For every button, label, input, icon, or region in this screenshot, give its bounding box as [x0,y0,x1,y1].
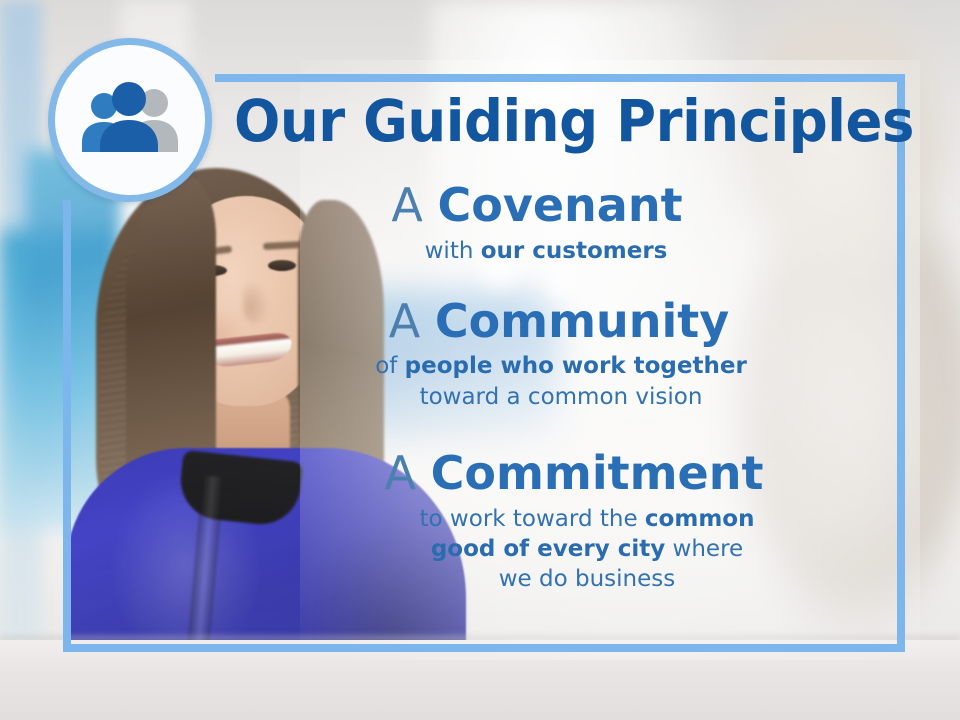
principle-community: A Community of people who work together … [220,296,888,412]
subtext-line: we do business [286,564,888,594]
subtext-line: toward a common vision [234,382,888,412]
principle-keyword: Commitment [431,446,764,500]
principle-article: A [389,294,420,348]
principle-community-subtext: of people who work together toward a com… [220,351,888,412]
subtext-line: good of every city where [286,534,888,564]
poster-canvas: FLOW FLOW [0,0,960,720]
subtext-part-bold: common [645,506,755,532]
principle-article: A [391,178,422,232]
desk-surface [0,640,960,720]
principle-covenant-subtext: with our customers [220,236,888,266]
subtext-line: with our customers [220,236,872,266]
people-badge [48,38,212,202]
frame-border-top [215,74,905,82]
subtext-part: of [375,353,404,379]
subtext-line: to work toward the common [286,504,888,534]
subtext-part-bold: our customers [481,238,668,264]
principle-covenant: A Covenant with our customers [220,180,888,266]
principles-list: A Covenant with our customers A Communit… [220,180,888,601]
subtext-part: where [665,536,743,562]
principle-keyword: Covenant [438,178,683,232]
frame-border-left [63,200,71,652]
principle-community-title: A Community [220,296,888,348]
principle-commitment-subtext: to work toward the common good of every … [220,504,888,595]
principle-commitment-title: A Commitment [220,448,888,500]
subtext-part-bold: people who work together [405,353,747,379]
principle-covenant-title: A Covenant [220,180,888,232]
subtext-part: to work toward the [420,506,645,532]
people-group-icon [78,81,182,159]
frame-border-bottom [63,644,905,652]
principle-keyword: Community [435,294,729,348]
subtext-part-bold: good of every city [431,536,665,562]
principle-article: A [385,446,416,500]
principle-commitment: A Commitment to work toward the common g… [220,448,888,595]
subtext-part: with [425,238,481,264]
subtext-line: of people who work together [234,351,888,381]
page-title: Our Guiding Principles [234,92,892,151]
frame-border-right [897,74,905,652]
